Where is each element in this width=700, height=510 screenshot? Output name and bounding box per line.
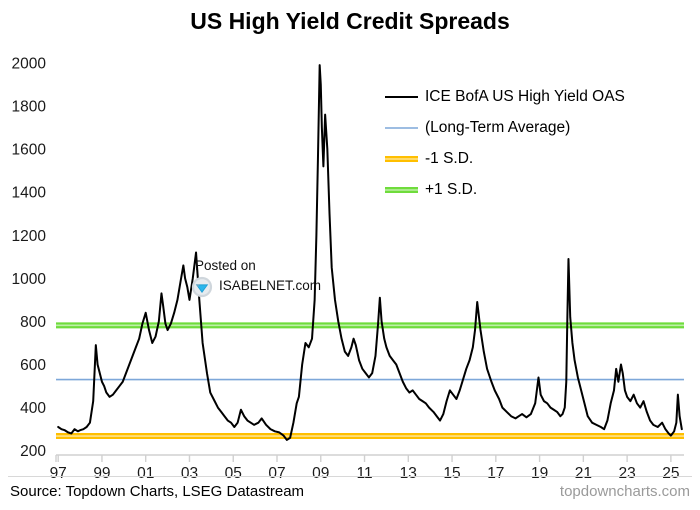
legend-label: +1 S.D.: [425, 181, 477, 198]
y-axis-tick-label: 1200: [12, 228, 47, 245]
x-axis-tick-label: 17: [487, 465, 504, 482]
legend-label: ICE BofA US High Yield OAS: [425, 88, 625, 105]
legend-label: (Long-Term Average): [425, 119, 570, 136]
x-axis-tick-label: 15: [443, 465, 460, 482]
data-series-group: [58, 65, 682, 440]
series-line-ice-bofa-us-high-yield-oas: [58, 65, 682, 440]
x-axis-tick-label: 11: [356, 465, 372, 482]
source-caption: Source: Topdown Charts, LSEG Datastream: [10, 483, 304, 500]
x-axis-tick-label: 99: [93, 465, 110, 482]
x-axis-tick-label: 01: [137, 465, 154, 482]
x-axis-tick-label: 97: [50, 465, 67, 482]
y-axis-tick-label: 1000: [12, 271, 47, 288]
y-axis-tick-label: 600: [20, 357, 46, 374]
y-axis-tick-label: 1600: [12, 142, 47, 159]
y-axis-tick-label: 1400: [12, 185, 47, 202]
y-axis-tick-label: 200: [20, 443, 46, 460]
footer-divider: [8, 476, 692, 477]
x-axis-tick-label: 07: [268, 465, 285, 482]
y-axis-tick-label: 1800: [12, 99, 47, 116]
x-axis: 979901030507091113151719212325: [50, 455, 684, 482]
x-axis-tick-label: 05: [225, 465, 242, 482]
x-axis-tick-label: 09: [312, 465, 329, 482]
y-axis-tick-label: 2000: [12, 55, 47, 72]
chart-legend: ICE BofA US High Yield OAS(Long-Term Ave…: [385, 88, 625, 198]
chart-root: US High Yield Credit Spreads 20040060080…: [0, 0, 700, 510]
y-axis: 200400600800100012001400160018002000: [12, 55, 47, 460]
line-chart-canvas: 2004006008001000120014001600180020009799…: [0, 0, 700, 510]
x-axis-tick-label: 03: [181, 465, 198, 482]
legend-label: -1 S.D.: [425, 150, 473, 167]
x-axis-tick-label: 25: [662, 465, 679, 482]
x-axis-tick-label: 23: [618, 465, 635, 482]
x-axis-tick-label: 19: [531, 465, 548, 482]
y-axis-tick-label: 800: [20, 314, 46, 331]
y-axis-tick-label: 400: [20, 400, 46, 417]
x-axis-tick-label: 13: [400, 465, 417, 482]
site-caption: topdowncharts.com: [560, 483, 690, 500]
x-axis-tick-label: 21: [575, 465, 592, 482]
